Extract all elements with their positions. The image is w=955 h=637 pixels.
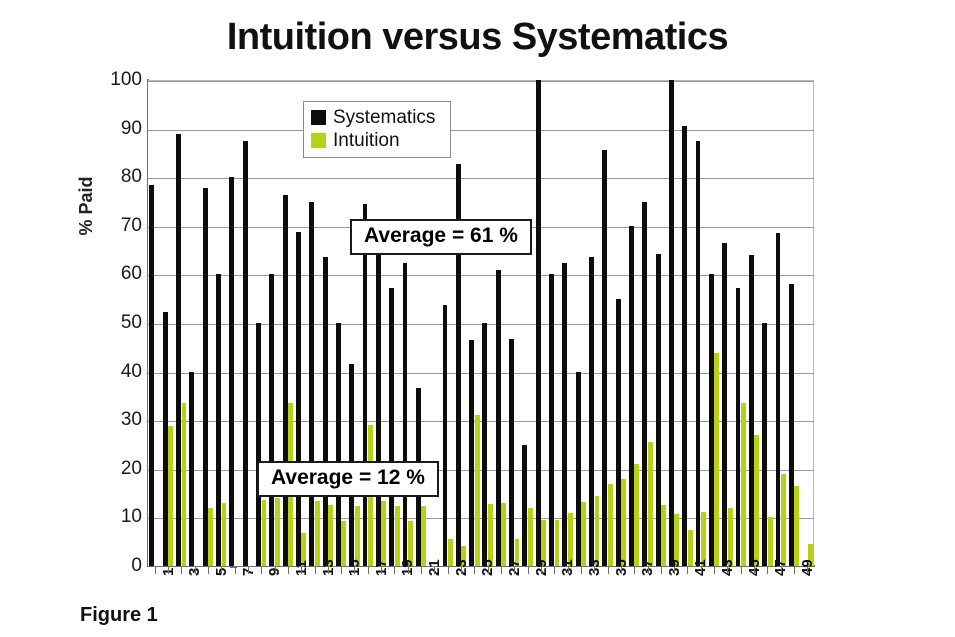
- y-tick-label: 30: [96, 410, 142, 429]
- figure-caption: Figure 1: [80, 604, 158, 627]
- bar-systematics: [389, 288, 394, 566]
- x-tick-mark: [221, 567, 222, 574]
- x-tick-mark: [155, 567, 156, 574]
- bar-systematics: [496, 270, 501, 566]
- x-tick-mark: [594, 567, 595, 574]
- x-tick-mark: [328, 567, 329, 574]
- chart-title: Intuition versus Systematics: [0, 14, 955, 60]
- bar-intuition: [275, 498, 280, 566]
- bar-intuition: [581, 502, 586, 566]
- bar-intuition: [355, 506, 360, 566]
- x-tick-mark: [608, 567, 609, 574]
- bar-systematics: [682, 126, 687, 566]
- x-tick-mark: [714, 567, 715, 574]
- x-tick-mark: [181, 567, 182, 574]
- x-tick-mark: [368, 567, 369, 574]
- bar-systematics: [536, 80, 541, 566]
- x-tick-mark: [741, 567, 742, 574]
- bar-systematics: [149, 185, 154, 567]
- x-tick-mark: [674, 567, 675, 574]
- bar-systematics: [203, 188, 208, 566]
- x-tick-mark: [488, 567, 489, 574]
- bar-systematics: [616, 299, 621, 566]
- x-tick-mark: [648, 567, 649, 574]
- x-tick-mark: [501, 567, 502, 574]
- y-tick-label: 80: [96, 167, 142, 186]
- bar-systematics: [309, 202, 314, 567]
- bar-systematics: [576, 372, 581, 566]
- x-tick-mark: [701, 567, 702, 574]
- plot-area: [148, 80, 814, 566]
- legend-swatch-intuition-icon: [311, 133, 326, 148]
- bar-intuition: [208, 508, 213, 566]
- bar-intuition: [608, 484, 613, 566]
- y-tick-label: 20: [96, 459, 142, 478]
- bar-intuition: [182, 403, 187, 566]
- bar-systematics: [549, 274, 554, 566]
- bar-systematics: [189, 372, 194, 566]
- chart-legend: Systematics Intuition: [303, 101, 451, 158]
- x-tick-mark: [195, 567, 196, 574]
- bar-systematics: [602, 150, 607, 567]
- bar-intuition: [621, 479, 626, 566]
- gridline: [148, 81, 814, 82]
- x-tick-mark: [767, 567, 768, 574]
- x-tick-mark: [794, 567, 795, 574]
- x-tick-mark: [554, 567, 555, 574]
- y-tick-label: 40: [96, 362, 142, 381]
- bar-systematics: [376, 238, 381, 566]
- x-tick-mark: [248, 567, 249, 574]
- bar-systematics: [163, 312, 168, 566]
- bar-intuition: [714, 353, 719, 566]
- x-tick-mark: [661, 567, 662, 574]
- bar-intuition: [488, 504, 493, 566]
- bar-intuition: [262, 500, 267, 566]
- bar-intuition: [741, 403, 746, 566]
- bar-intuition: [781, 474, 786, 566]
- y-tick-label: 0: [96, 556, 142, 575]
- y-tick-label: 50: [96, 313, 142, 332]
- x-tick-mark: [807, 567, 808, 574]
- x-tick-mark: [634, 567, 635, 574]
- x-tick-mark: [568, 567, 569, 574]
- x-tick-mark: [168, 567, 169, 574]
- y-tick-label: 60: [96, 264, 142, 283]
- y-axis-tick-labels: 0102030405060708090100: [88, 0, 142, 637]
- gridline: [148, 324, 814, 325]
- bar-systematics: [443, 305, 448, 566]
- x-tick-mark: [301, 567, 302, 574]
- bar-systematics: [403, 263, 408, 566]
- y-tick-label: 10: [96, 507, 142, 526]
- bar-intuition: [595, 496, 600, 566]
- y-tick-label: 90: [96, 119, 142, 138]
- x-tick-mark: [528, 567, 529, 574]
- x-tick-mark: [581, 567, 582, 574]
- x-tick-mark: [687, 567, 688, 574]
- figure-container: Intuition versus Systematics % Paid 0102…: [0, 0, 955, 637]
- bar-systematics: [522, 445, 527, 567]
- annotation-systematics-average: Average = 61 %: [350, 219, 532, 255]
- bar-systematics: [562, 263, 567, 566]
- bar-systematics: [363, 204, 368, 566]
- bar-intuition: [222, 503, 227, 566]
- bar-intuition: [315, 501, 320, 566]
- annotation-intuition-average: Average = 12 %: [257, 461, 439, 497]
- bar-systematics: [176, 134, 181, 566]
- bar-systematics: [296, 232, 301, 566]
- x-tick-mark: [474, 567, 475, 574]
- bar-systematics: [256, 323, 261, 566]
- y-tick-label: 100: [96, 70, 142, 89]
- bar-intuition: [701, 512, 706, 566]
- bar-intuition: [648, 442, 653, 566]
- bar-systematics: [336, 323, 341, 566]
- x-tick-mark: [315, 567, 316, 574]
- bar-intuition: [395, 506, 400, 566]
- x-tick-mark: [381, 567, 382, 574]
- bar-systematics: [656, 254, 661, 566]
- x-tick-mark: [448, 567, 449, 574]
- bar-systematics: [696, 141, 701, 566]
- x-tick-mark: [341, 567, 342, 574]
- bar-systematics: [469, 340, 474, 566]
- x-tick-mark: [727, 567, 728, 574]
- bar-systematics: [642, 202, 647, 566]
- bar-intuition: [661, 505, 666, 566]
- bar-intuition: [674, 514, 679, 566]
- x-tick-mark: [208, 567, 209, 574]
- x-tick-mark: [541, 567, 542, 574]
- legend-item-systematics: Systematics: [311, 106, 442, 129]
- bar-intuition: [634, 464, 639, 566]
- bar-systematics: [509, 339, 514, 566]
- bar-intuition: [501, 503, 506, 566]
- bar-intuition: [728, 508, 733, 566]
- x-tick-mark: [275, 567, 276, 574]
- x-tick-mark: [235, 567, 236, 574]
- bar-intuition: [475, 415, 480, 566]
- x-tick-mark: [621, 567, 622, 574]
- bar-intuition: [754, 435, 759, 566]
- bar-systematics: [323, 257, 328, 566]
- gridline: [148, 275, 814, 276]
- bar-intuition: [568, 513, 573, 566]
- bar-systematics: [482, 323, 487, 566]
- bar-systematics: [722, 243, 727, 566]
- bar-intuition: [328, 505, 333, 566]
- bar-intuition: [381, 501, 386, 566]
- x-tick-mark: [514, 567, 515, 574]
- legend-swatch-systematics-icon: [311, 110, 326, 125]
- bar-systematics: [749, 255, 754, 566]
- bar-systematics: [776, 233, 781, 566]
- bar-intuition: [528, 508, 533, 566]
- bar-systematics: [789, 284, 794, 566]
- bar-systematics: [762, 323, 767, 566]
- x-tick-mark: [261, 567, 262, 574]
- bar-systematics: [589, 257, 594, 566]
- bar-systematics: [269, 274, 274, 566]
- bar-systematics: [669, 80, 674, 566]
- legend-label-systematics: Systematics: [333, 107, 435, 128]
- bar-intuition: [421, 506, 426, 566]
- x-tick-mark: [288, 567, 289, 574]
- bar-systematics: [736, 288, 741, 566]
- bar-systematics: [629, 226, 634, 566]
- bar-systematics: [283, 195, 288, 566]
- y-tick-label: 70: [96, 216, 142, 235]
- bar-systematics: [216, 274, 221, 566]
- bar-systematics: [709, 274, 714, 566]
- bar-intuition: [794, 486, 799, 566]
- legend-label-intuition: Intuition: [333, 130, 400, 151]
- bar-systematics: [229, 177, 234, 566]
- x-tick-mark: [354, 567, 355, 574]
- x-tick-mark: [754, 567, 755, 574]
- legend-item-intuition: Intuition: [311, 129, 442, 152]
- x-tick-mark: [394, 567, 395, 574]
- x-tick-mark: [461, 567, 462, 574]
- bar-intuition: [168, 426, 173, 566]
- gridline: [148, 178, 814, 179]
- x-tick-mark: [408, 567, 409, 574]
- x-tick-mark: [781, 567, 782, 574]
- x-tick-mark: [421, 567, 422, 574]
- bar-systematics: [243, 141, 248, 566]
- gridline: [148, 130, 814, 131]
- x-tick-mark: [434, 567, 435, 574]
